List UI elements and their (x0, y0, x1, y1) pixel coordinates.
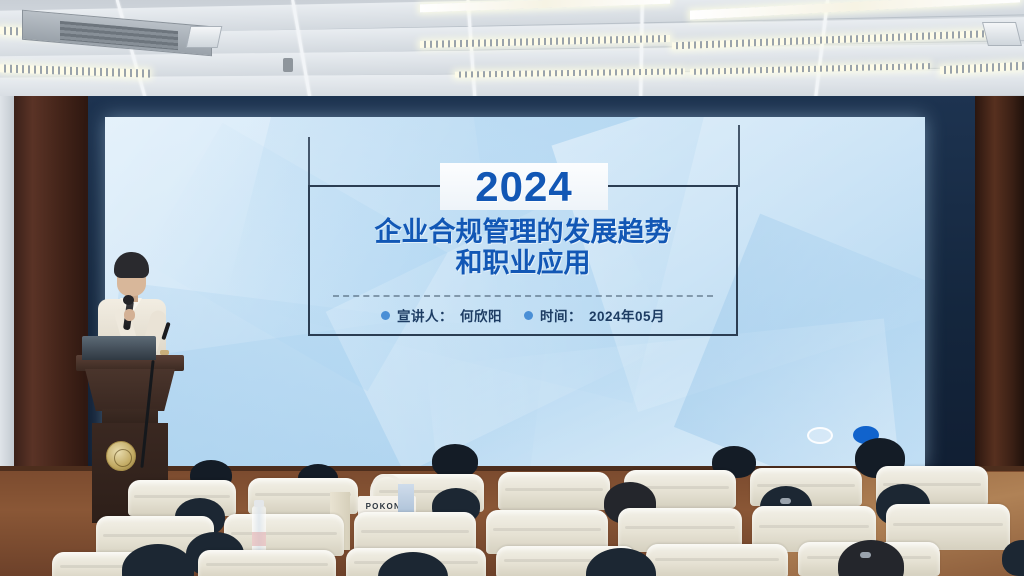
year-text: 2024 (475, 166, 572, 208)
ceiling-speaker-icon (283, 58, 293, 72)
bullet-dot-icon (524, 311, 533, 320)
meta-date-value: 2024年05月 (589, 305, 665, 325)
meta-presenter-value: 何欣阳 (460, 305, 502, 325)
water-bottle-label (252, 532, 266, 546)
meta-date-label: 时间： (540, 305, 582, 325)
wood-column-right (975, 96, 1024, 496)
audience-chair (498, 472, 610, 510)
meta-date: 时间： 2024年05月 (524, 305, 665, 325)
slide-title: 企业合规管理的发展趋势 和职业应用 (308, 217, 738, 280)
year-badge: 2024 (440, 163, 608, 210)
audience-chair (646, 544, 788, 576)
frame-tick-left (308, 137, 310, 187)
slide-title-line2: 和职业应用 (308, 248, 738, 279)
audience-chair (198, 550, 336, 576)
microphone-head-icon (123, 295, 134, 305)
wall-left-strip (0, 96, 14, 496)
air-diffuser-icon (186, 26, 223, 48)
projection-screen[interactable]: 2024 企业合规管理的发展趋势 和职业应用 宣讲人： 何欣阳 时间： 2024… (105, 117, 925, 468)
podium-body (85, 369, 175, 411)
presenter-hair (114, 252, 149, 278)
air-diffuser-icon (982, 22, 1022, 46)
meta-presenter: 宣讲人： 何欣阳 (381, 305, 502, 325)
audience-head (432, 444, 478, 478)
hair-clip-icon (860, 552, 871, 558)
presentation-photo-scene: 2024 企业合规管理的发展趋势 和职业应用 宣讲人： 何欣阳 时间： 2024… (0, 0, 1024, 576)
frame-tick-right (738, 125, 740, 187)
bullet-dot-icon (381, 311, 390, 320)
slide-meta-row: 宣讲人： 何欣阳 时间： 2024年05月 (308, 305, 738, 325)
ceiling (0, 0, 1024, 108)
meta-presenter-label: 宣讲人： (397, 305, 453, 325)
podium-laptop (82, 336, 156, 360)
water-bottle-cap (254, 500, 264, 507)
presenter-hand (124, 309, 135, 321)
audience-seating: POKONO (0, 440, 1024, 576)
dashed-separator (333, 295, 713, 297)
slide-title-line1: 企业合规管理的发展趋势 (375, 217, 672, 247)
hair-clip-icon (780, 498, 791, 504)
